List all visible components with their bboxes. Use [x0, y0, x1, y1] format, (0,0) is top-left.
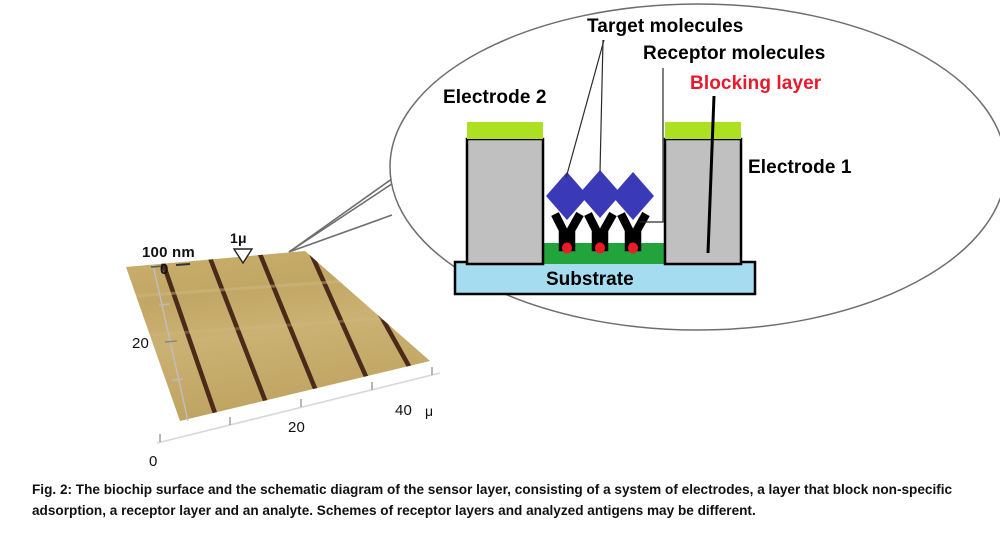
electrode-2-body	[467, 139, 543, 264]
label-receptor-molecules: Receptor molecules	[643, 43, 825, 65]
target-molecules-group	[546, 170, 654, 220]
receptor-anchor-dot	[562, 243, 572, 254]
label-target-molecules: Target molecules	[587, 16, 743, 38]
afm-z-zero-tick	[176, 264, 190, 265]
afm-x-axis-unit: μ	[425, 403, 433, 419]
label-electrode-1: Electrode 1	[748, 157, 852, 179]
receptor-anchor-dot	[628, 243, 638, 254]
figure-2-container: Target molecules Receptor molecules Bloc…	[0, 0, 1000, 547]
electrode-2-cap	[467, 122, 543, 139]
afm-x-axis-tick-0: 0	[149, 453, 158, 470]
afm-svg	[120, 225, 460, 475]
electrode-1-cap	[665, 122, 741, 139]
label-substrate: Substrate	[546, 269, 634, 291]
label-blocking-layer: Blocking layer	[690, 73, 821, 95]
afm-z-axis-title: 100 nm	[142, 244, 195, 261]
receptor-anchor-dot	[595, 243, 605, 254]
afm-surface-plane	[126, 251, 430, 421]
afm-x-axis-tick-20: 20	[288, 419, 305, 436]
figure-caption: Fig. 2: The biochip surface and the sche…	[32, 480, 962, 521]
afm-scale-marker-label: 1μ	[230, 230, 247, 246]
electrode-1-body	[665, 139, 741, 264]
label-electrode-2: Electrode 2	[443, 87, 547, 109]
afm-y-axis-tick-20: 20	[132, 335, 149, 352]
afm-x-axis-tick-40: 40	[395, 402, 412, 419]
afm-image-panel: 100 nm 0 1μ 20 0 20 40 μ	[120, 225, 460, 475]
afm-z-axis-zero-label: 0	[160, 261, 169, 278]
